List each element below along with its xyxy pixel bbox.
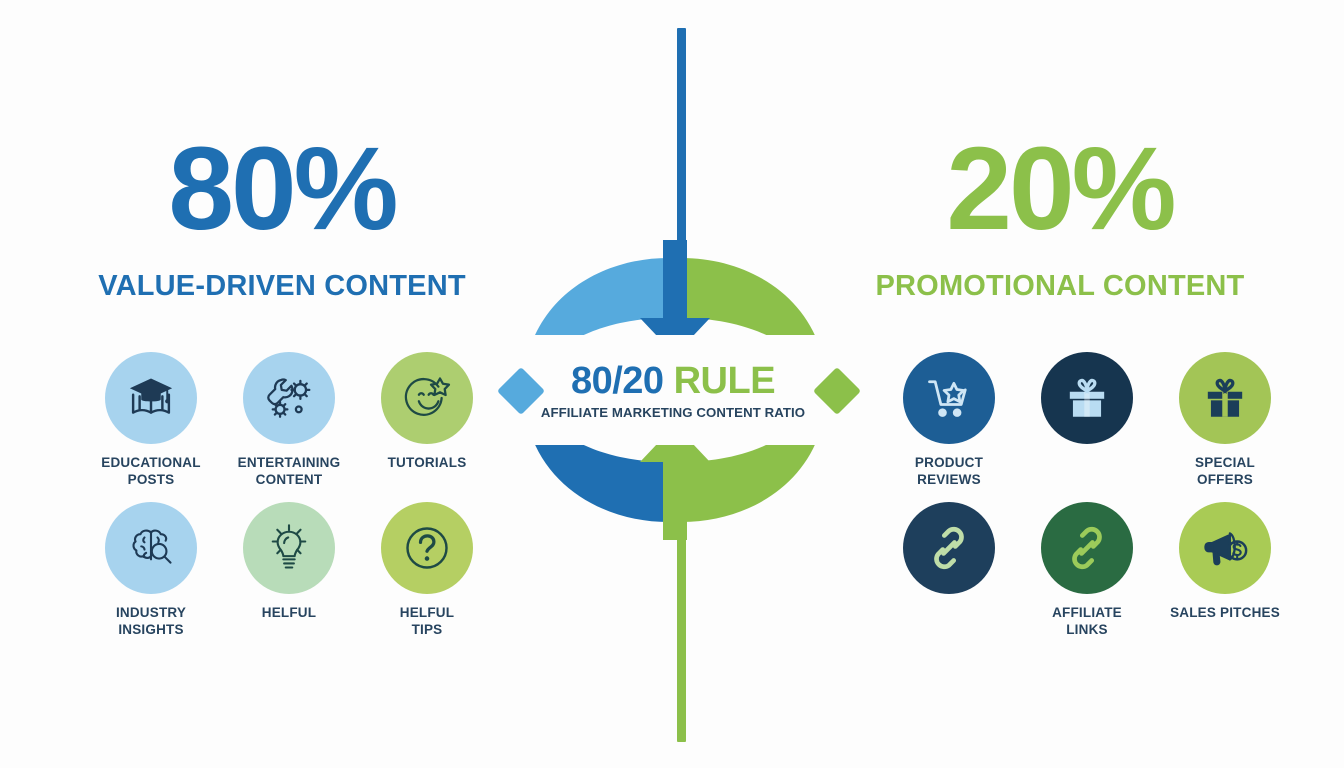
gift-box-icon — [1200, 373, 1250, 423]
right-column-1: PRODUCT REVIEWS — [880, 352, 1018, 652]
item-label: AFFILIATE LINKS — [1052, 605, 1122, 639]
graduation-book-icon — [125, 372, 177, 424]
item-label: HELFUL TIPS — [400, 605, 454, 639]
right-percent: 20% — [760, 130, 1344, 248]
left-section-header: 80% VALUE-DRIVEN CONTENT — [0, 130, 582, 303]
right-column-2: AFFILIATE LINKS — [1018, 352, 1156, 652]
icon-bubble[interactable] — [1041, 502, 1133, 594]
list-item[interactable]: SPECIAL OFFERS — [1179, 352, 1271, 502]
item-label: EDUCATIONAL POSTS — [101, 455, 200, 489]
icon-bubble[interactable] — [1179, 502, 1271, 594]
item-label: PRODUCT REVIEWS — [915, 455, 983, 489]
left-headline: VALUE-DRIVEN CONTENT — [0, 270, 582, 303]
left-column-1: EDUCATIONAL POSTS — [82, 352, 220, 652]
right-icon-grid: PRODUCT REVIEWS — [880, 352, 1294, 652]
icon-bubble[interactable] — [105, 352, 197, 444]
lightbulb-icon — [263, 522, 315, 574]
icon-bubble[interactable] — [243, 352, 335, 444]
wrench-gears-icon — [263, 372, 315, 424]
list-item[interactable]: AFFILIATE LINKS — [1041, 502, 1133, 652]
list-item[interactable]: TUTORIALS — [381, 352, 473, 502]
item-label: INDUSTRY INSIGHTS — [116, 605, 186, 639]
item-label: TUTORIALS — [388, 455, 467, 472]
item-label: SPECIAL OFFERS — [1195, 455, 1255, 489]
brain-magnifier-icon — [125, 522, 177, 574]
list-item[interactable]: EDUCATIONAL POSTS — [101, 352, 200, 502]
list-item[interactable] — [903, 502, 995, 652]
icon-bubble[interactable] — [105, 502, 197, 594]
left-icon-grid: EDUCATIONAL POSTS — [82, 352, 496, 652]
infographic-canvas: 80% VALUE-DRIVEN CONTENT 20% PROMOTIONAL… — [0, 0, 1344, 768]
icon-bubble[interactable] — [1041, 352, 1133, 444]
icon-bubble[interactable] — [903, 352, 995, 444]
list-item[interactable]: INDUSTRY INSIGHTS — [105, 502, 197, 652]
megaphone-dollar-icon — [1199, 522, 1251, 574]
icon-bubble[interactable] — [381, 352, 473, 444]
icon-bubble[interactable] — [381, 502, 473, 594]
item-label: HELFUL — [262, 605, 316, 622]
chain-link-icon — [924, 523, 974, 573]
item-label: SALES PITCHES — [1170, 605, 1280, 622]
list-item[interactable] — [1041, 352, 1133, 502]
gift-box-icon — [1062, 373, 1112, 423]
right-column-3: SPECIAL OFFERS — [1156, 352, 1294, 652]
smiley-star-icon — [401, 372, 453, 424]
list-item[interactable]: PRODUCT REVIEWS — [903, 352, 995, 502]
cart-star-icon — [923, 372, 975, 424]
list-item[interactable]: HELFUL TIPS — [381, 502, 473, 652]
question-mark-icon — [401, 522, 453, 574]
item-label: ENTERTAINING CONTENT — [238, 455, 341, 489]
cycle-arrows-graphic — [500, 240, 850, 540]
icon-bubble[interactable] — [243, 502, 335, 594]
list-item[interactable]: SALES PITCHES — [1170, 502, 1280, 652]
list-item[interactable]: HELFUL — [243, 502, 335, 652]
list-item[interactable]: ENTERTAINING CONTENT — [238, 352, 341, 502]
chain-link-icon — [1062, 523, 1112, 573]
icon-bubble[interactable] — [1179, 352, 1271, 444]
left-column-3: TUTORIALS HELFUL TIPS — [358, 352, 496, 652]
icon-bubble[interactable] — [903, 502, 995, 594]
left-percent: 80% — [0, 130, 582, 248]
left-column-2: ENTERTAINING CONTENT HELFUL — [220, 352, 358, 652]
